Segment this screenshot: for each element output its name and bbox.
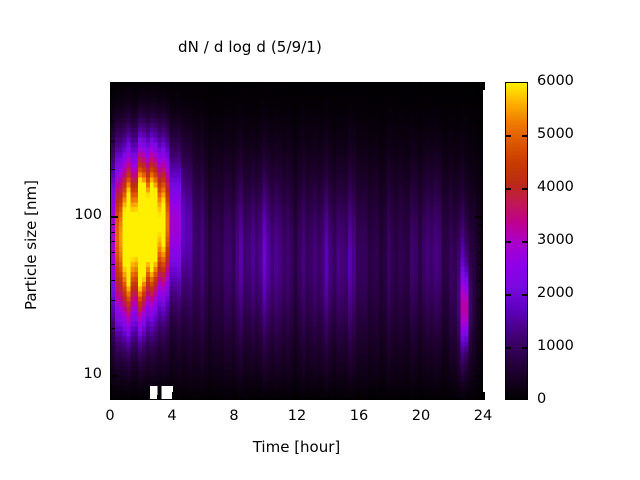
- y-minor-tick-right: [478, 224, 483, 225]
- x-minor-tick-top: [374, 82, 375, 87]
- y-minor-tick-right: [478, 232, 483, 233]
- y-minor-tick: [110, 121, 115, 122]
- x-minor-tick-top: [281, 82, 282, 87]
- x-minor-tick-top: [343, 82, 344, 87]
- x-minor-tick: [188, 395, 189, 400]
- y-minor-tick-right: [478, 264, 483, 265]
- colorbar-tick: [505, 241, 511, 243]
- x-major-tick: [110, 392, 112, 400]
- y-minor-tick: [110, 105, 115, 106]
- x-minor-tick: [436, 395, 437, 400]
- x-minor-tick-top: [452, 82, 453, 87]
- colorbar-tick-label: 2000: [537, 285, 597, 301]
- colorbar-tick: [522, 135, 528, 137]
- x-minor-tick-top: [436, 82, 437, 87]
- x-minor-tick-top: [390, 82, 391, 87]
- x-minor-tick-top: [157, 82, 158, 87]
- x-major-tick-top: [234, 82, 236, 90]
- x-minor-tick: [343, 395, 344, 400]
- x-minor-tick: [390, 395, 391, 400]
- y-minor-tick-right: [478, 252, 483, 253]
- x-axis-title: Time [hour]: [110, 438, 483, 456]
- x-major-tick-top: [359, 82, 361, 90]
- x-major-tick-top: [483, 82, 485, 90]
- colorbar-tick-label: 1000: [537, 338, 597, 354]
- y-minor-tick: [110, 280, 115, 281]
- x-minor-tick-top: [203, 82, 204, 87]
- colorbar-tick: [505, 347, 511, 349]
- colorbar-tick-label: 4000: [537, 179, 597, 195]
- x-major-tick: [483, 392, 485, 400]
- x-minor-tick-top: [126, 82, 127, 87]
- x-major-tick-top: [421, 82, 423, 90]
- y-minor-tick: [110, 93, 115, 94]
- x-major-tick-top: [297, 82, 299, 90]
- x-major-tick: [234, 392, 236, 400]
- y-axis-title: Particle size [nm]: [22, 145, 40, 345]
- colorbar-tick: [522, 347, 528, 349]
- x-minor-tick: [265, 395, 266, 400]
- heatmap-plot-area: [110, 82, 483, 400]
- x-minor-tick: [250, 395, 251, 400]
- x-minor-tick-top: [265, 82, 266, 87]
- x-tick-label: 12: [277, 408, 317, 424]
- colorbar-tick-label: 6000: [537, 73, 597, 89]
- x-minor-tick-top: [328, 82, 329, 87]
- x-minor-tick-top: [141, 82, 142, 87]
- x-minor-tick-top: [219, 82, 220, 87]
- x-tick-label: 24: [463, 408, 503, 424]
- y-minor-tick-right: [478, 141, 483, 142]
- colorbar-tick: [505, 135, 511, 137]
- y-major-tick: [110, 375, 118, 377]
- x-minor-tick: [312, 395, 313, 400]
- x-major-tick-top: [110, 82, 112, 90]
- y-minor-tick: [110, 232, 115, 233]
- x-minor-tick-top: [467, 82, 468, 87]
- y-minor-tick: [110, 169, 115, 170]
- y-minor-tick: [110, 328, 115, 329]
- y-tick-label: 100: [58, 207, 102, 223]
- y-minor-tick-right: [478, 280, 483, 281]
- y-minor-tick-right: [478, 169, 483, 170]
- x-tick-label: 0: [90, 408, 130, 424]
- y-minor-tick: [110, 264, 115, 265]
- x-minor-tick: [328, 395, 329, 400]
- x-minor-tick-top: [250, 82, 251, 87]
- x-major-tick: [297, 392, 299, 400]
- x-major-tick-top: [172, 82, 174, 90]
- x-minor-tick-top: [188, 82, 189, 87]
- x-minor-tick: [452, 395, 453, 400]
- colorbar-tick-label: 0: [537, 391, 597, 407]
- x-minor-tick: [281, 395, 282, 400]
- colorbar-tick-label: 3000: [537, 232, 597, 248]
- colorbar-tick: [522, 294, 528, 296]
- x-minor-tick: [157, 395, 158, 400]
- colorbar-tick: [505, 294, 511, 296]
- y-minor-tick: [110, 300, 115, 301]
- x-minor-tick-top: [405, 82, 406, 87]
- x-minor-tick-top: [312, 82, 313, 87]
- y-minor-tick: [110, 224, 115, 225]
- y-minor-tick-right: [478, 241, 483, 242]
- x-tick-label: 8: [214, 408, 254, 424]
- colorbar-tick-label: 5000: [537, 126, 597, 142]
- x-major-tick: [359, 392, 361, 400]
- x-minor-tick: [467, 395, 468, 400]
- x-minor-tick: [374, 395, 375, 400]
- x-minor-tick: [219, 395, 220, 400]
- colorbar-tick: [522, 241, 528, 243]
- y-minor-tick: [110, 141, 115, 142]
- figure-root: dN / d log d (5/9/1) 0481216202410100 Ti…: [0, 0, 640, 480]
- y-minor-tick-right: [478, 121, 483, 122]
- y-major-tick-right: [475, 216, 483, 218]
- y-major-tick: [110, 216, 118, 218]
- y-minor-tick-right: [478, 93, 483, 94]
- x-minor-tick: [203, 395, 204, 400]
- y-major-tick-right: [475, 375, 483, 377]
- chart-title: dN / d log d (5/9/1): [0, 38, 500, 56]
- y-minor-tick-right: [478, 300, 483, 301]
- x-minor-tick: [141, 395, 142, 400]
- colorbar-tick: [505, 188, 511, 190]
- x-major-tick: [421, 392, 423, 400]
- y-minor-tick-right: [478, 105, 483, 106]
- y-minor-tick: [110, 252, 115, 253]
- heatmap-canvas: [111, 83, 483, 400]
- colorbar-tick: [522, 188, 528, 190]
- x-tick-label: 16: [339, 408, 379, 424]
- y-minor-tick: [110, 241, 115, 242]
- x-major-tick: [172, 392, 174, 400]
- x-minor-tick: [405, 395, 406, 400]
- y-minor-tick-right: [478, 328, 483, 329]
- x-tick-label: 4: [152, 408, 192, 424]
- y-tick-label: 10: [58, 366, 102, 382]
- x-tick-label: 20: [401, 408, 441, 424]
- x-minor-tick: [126, 395, 127, 400]
